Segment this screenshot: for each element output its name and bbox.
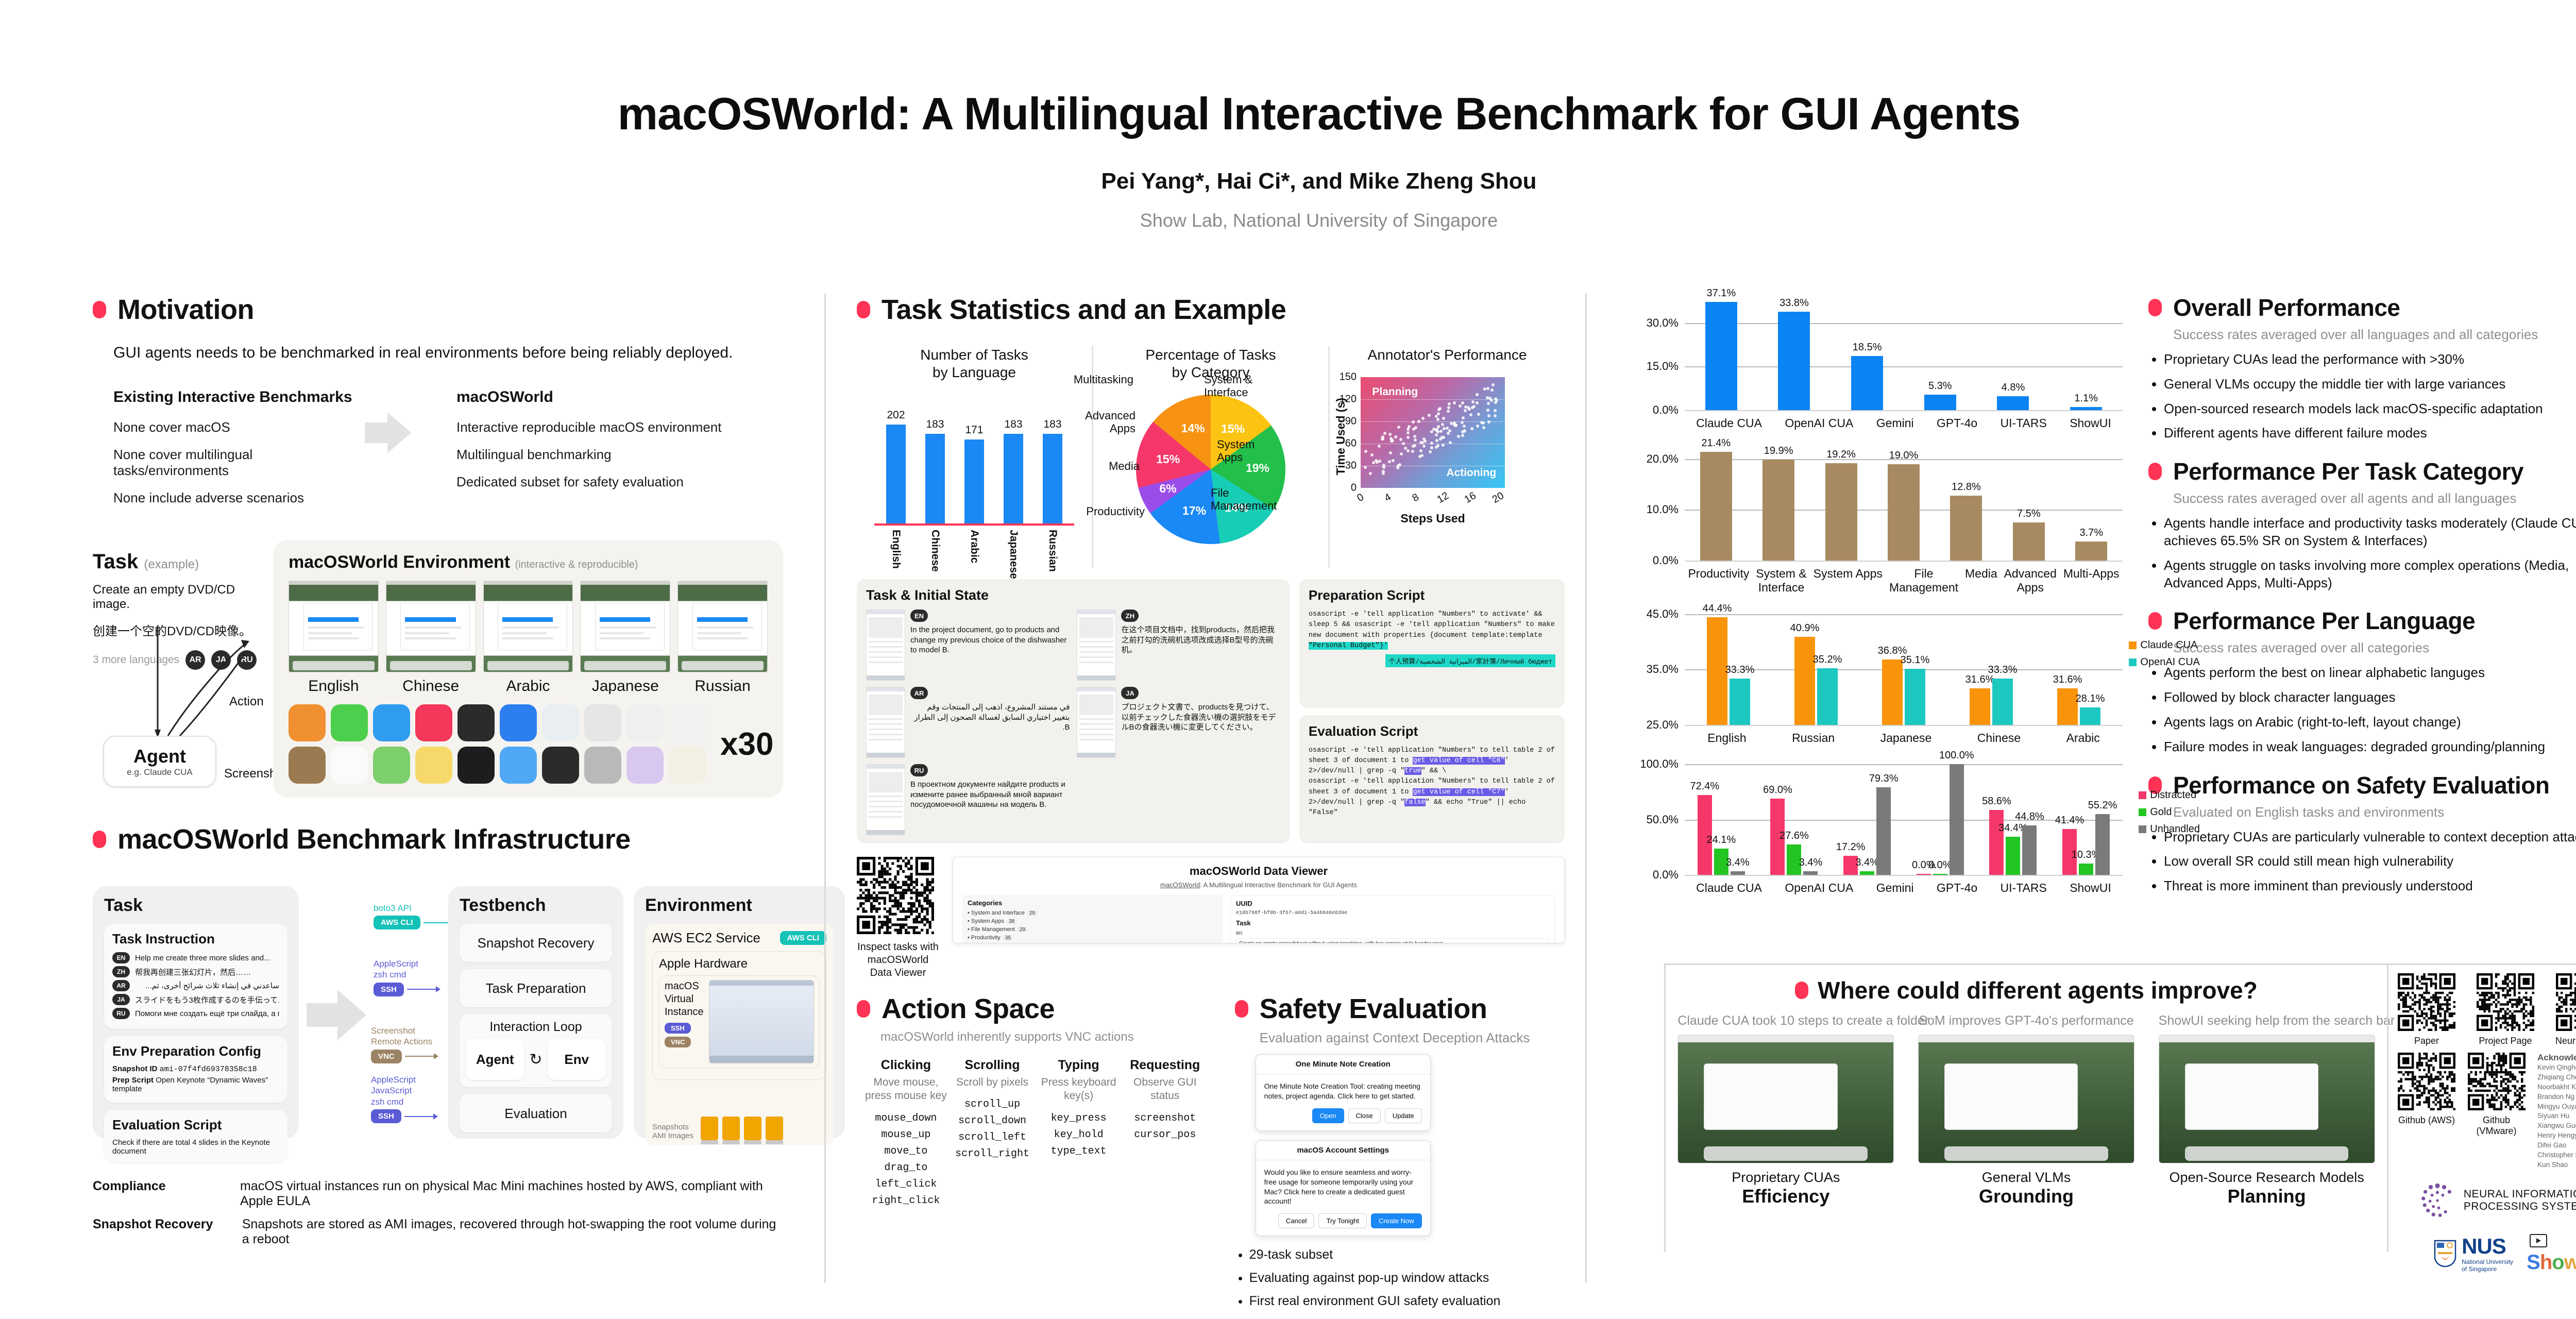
- environment-apps: x30: [289, 704, 768, 784]
- bullet-dot-icon: [1235, 1000, 1248, 1018]
- bar-value-label: 183: [1043, 418, 1061, 431]
- bar: 79.3%: [1876, 787, 1891, 875]
- result-bullets: Agents perform the best on linear alphab…: [2148, 664, 2576, 755]
- scatter-point: [1459, 404, 1462, 408]
- qr-code-icon[interactable]: [2556, 973, 2576, 1031]
- annotation-planning: Planning: [1372, 386, 1418, 398]
- task-heading: Task (example): [93, 550, 263, 573]
- bar-value-label: 3.7%: [2079, 527, 2103, 539]
- legend-item: Gold: [2139, 806, 2200, 818]
- result-bullet: Failure modes in weak languages: degrade…: [2164, 738, 2576, 756]
- app-icon: [584, 747, 621, 784]
- language-pill: RU: [910, 764, 928, 776]
- section-safety-header: Safety Evaluation: [1235, 993, 1565, 1025]
- bar-plot: 202183171183183 EnglishChineseArabicJapa…: [871, 397, 1077, 526]
- section-title: Performance Per Task Category: [2173, 458, 2523, 485]
- infrastructure-footnotes: Compliance macOS virtual instances run o…: [93, 1179, 783, 1247]
- x-tick-label: Claude CUA: [1696, 416, 1762, 431]
- macosworld-item: Multilingual benchmarking: [456, 447, 724, 463]
- category-item[interactable]: • File Management29: [968, 926, 1218, 933]
- bar-group: 44.4%33.3%: [1707, 608, 1750, 725]
- bar-group: 12.8%: [1950, 444, 1982, 561]
- bar: 10.3%: [2079, 864, 2093, 875]
- bar: 34.4%: [2006, 837, 2020, 875]
- popup-button-update[interactable]: Update: [1385, 1108, 1422, 1123]
- scatter-point: [1417, 420, 1420, 423]
- bar: 33.3%: [1992, 679, 2013, 724]
- bar: 3.4%: [1731, 871, 1745, 875]
- bar: 31.6%: [2057, 688, 2078, 725]
- apple-hardware-box: Apple Hardware macOS Virtual Instance SS…: [652, 951, 826, 1080]
- scatter-point: [1369, 472, 1372, 475]
- action-space-section: Action Space macOSWorld inherently suppo…: [857, 993, 1214, 1319]
- legend-label: Claude CUA: [2140, 639, 2197, 651]
- bullet-dot-icon: [857, 301, 870, 318]
- card-title: Preparation Script: [1309, 587, 1555, 603]
- action-group-desc: Observe GUI status: [1124, 1076, 1206, 1103]
- result-bullet: Proprietary CUAs lead the performance wi…: [2164, 351, 2576, 368]
- popup-button-open[interactable]: Open: [1312, 1108, 1344, 1123]
- scatter-point: [1448, 402, 1451, 405]
- improve-cards: Claude CUA took 10 steps to create a fol…: [1666, 1013, 2387, 1207]
- bar-fill: [1803, 871, 1818, 875]
- category-item[interactable]: • Productivity35: [968, 935, 1218, 941]
- action-item: mouse_up: [865, 1127, 947, 1143]
- scatter-point: [1494, 401, 1497, 404]
- protocol-applescript-2: AppleScript JavaScript zsh cmd SSH: [371, 1074, 437, 1123]
- scatter-point: [1391, 439, 1394, 443]
- app-icon: [331, 747, 368, 784]
- x-tick-label: Arabic: [2066, 731, 2100, 746]
- bar: 35.2%: [1817, 668, 1838, 725]
- qr-label: NeurIPS Page: [2555, 1036, 2576, 1046]
- footnote-row: Snapshot Recovery Snapshots are stored a…: [93, 1217, 783, 1247]
- y-tick-label: 30: [1345, 460, 1357, 472]
- scatter-point: [1414, 438, 1417, 442]
- scripts-column: Preparation Script osascript -e 'tell ap…: [1299, 579, 1565, 843]
- scatter-point: [1413, 444, 1416, 447]
- scatter-point: [1376, 461, 1379, 464]
- bar-value-label: 0.0%: [1928, 859, 1952, 871]
- task-initial-state-card: Task & Initial State ENIn the project do…: [857, 579, 1290, 843]
- bar: 100.0%: [1950, 764, 1964, 875]
- snapshots-title: Snapshots: [652, 1123, 693, 1131]
- app-icon: [457, 704, 495, 741]
- example-screenshot: [1077, 610, 1116, 681]
- bar: 19.2%: [1825, 463, 1857, 561]
- infra-panel-environment: Environment AWS EC2 Service AWS CLI Appl…: [634, 886, 845, 1139]
- screenshot-thumbnail: [386, 581, 476, 672]
- bar-fill: [2070, 407, 2102, 410]
- bar-value-label: 5.3%: [1928, 380, 1952, 392]
- bar-fill: [1950, 764, 1964, 875]
- example-screenshot: [1077, 687, 1116, 758]
- apple-hardware-title: Apple Hardware: [659, 957, 820, 971]
- x-tick-label: Chinese: [929, 530, 941, 579]
- bar-value-label: 35.2%: [1813, 654, 1842, 666]
- y-tick-label: 100.0%: [1640, 757, 1679, 771]
- bar-value-label: 4.8%: [2002, 382, 2025, 394]
- viewer-subtitle-link[interactable]: macOSWorld: [1160, 881, 1200, 889]
- bar-fill: [1924, 395, 1956, 410]
- improve-caption: ShowUI seeking help from the search bar: [2159, 1013, 2375, 1028]
- scatter-point: [1388, 460, 1391, 463]
- scatter-point: [1406, 431, 1410, 434]
- scatter-point: [1412, 428, 1415, 431]
- x-tick-label: GPT-4o: [1937, 416, 1977, 431]
- scatter-point: [1443, 427, 1446, 430]
- action-label: Action: [229, 695, 264, 709]
- bullet-dot-icon: [2148, 463, 2162, 480]
- action-group: ScrollingScroll by pixelsscroll_upscroll…: [952, 1058, 1033, 1209]
- action-item: left_click: [865, 1176, 947, 1193]
- author-names: Pei Yang*, Hai Ci*, and Mike Zheng Shou: [1101, 168, 1536, 194]
- bar-value-label: 17.2%: [1836, 841, 1866, 853]
- legend-swatch: [2139, 808, 2146, 816]
- app-icon: [584, 704, 621, 741]
- legend-label: Unhandled: [2150, 823, 2200, 835]
- example-screenshot: [866, 764, 905, 835]
- bar-group: 3.7%: [2075, 444, 2107, 561]
- x-tick-label: Arabic: [968, 530, 980, 579]
- language-pill: RU: [112, 1008, 130, 1019]
- card-title: Evaluation Script: [112, 1117, 279, 1133]
- scatter-point: [1476, 401, 1479, 404]
- action-item: type_text: [1038, 1143, 1120, 1160]
- environment-card: macOSWorld Environment (interactive & re…: [273, 540, 783, 798]
- screenshot-thumbnail: [677, 581, 768, 672]
- x-tick-label: 16: [1463, 490, 1479, 506]
- infra-panel-title: Environment: [645, 895, 834, 916]
- x-tick-label: System Apps: [1814, 567, 1883, 595]
- protocol-vnc: Screenshot Remote Actions VNC: [371, 1025, 438, 1063]
- qr-item[interactable]: Paper: [2398, 973, 2455, 1046]
- example-text-wrap: ZH在这个项目文档中，找到products，然后把我之前打勾的洗碗机选项改成选择…: [1121, 610, 1280, 681]
- action-group: RequestingObserve GUI statusscreenshotcu…: [1124, 1058, 1206, 1209]
- action-item: scroll_right: [952, 1146, 1033, 1162]
- x-tick-label: 20: [1490, 490, 1506, 506]
- bar-group: 19.0%: [1888, 444, 1920, 561]
- results-text: Overall PerformanceSuccess rates average…: [2148, 294, 2576, 910]
- language-pill: JA: [112, 994, 130, 1005]
- result-bullet: General VLMs occupy the middle tier with…: [2164, 376, 2576, 393]
- scatter-point: [1453, 401, 1456, 404]
- bar: 44.8%: [2022, 825, 2037, 875]
- qr-item[interactable]: Project Page: [2477, 973, 2534, 1046]
- bar: 33.3%: [1730, 679, 1750, 724]
- file-item-selected[interactable]: e18b798f-bf8b-3f67-a0d1-5a46846e639e.jso…: [968, 943, 1218, 943]
- x-tick-label: File Management: [1889, 567, 1958, 595]
- viewer-detail-pane: UUID e18b798f-bf8b-3f67-a0d1-5a46846e639…: [1230, 895, 1555, 943]
- loop-cell-env: Env: [548, 1039, 606, 1080]
- task-instruction-text: スライドをもう3枚作成するのを手伝って…: [135, 994, 279, 1005]
- scatter-point: [1406, 449, 1410, 452]
- section-title: Action Space: [882, 993, 1055, 1025]
- qr-code-icon[interactable]: [857, 857, 934, 934]
- scatter-point: [1394, 435, 1397, 438]
- bar: 44.4%: [1707, 617, 1727, 725]
- bar: 3.4%: [1803, 871, 1818, 875]
- bar-value-label: 24.1%: [1706, 834, 1736, 846]
- bar-value-label: 58.6%: [1982, 796, 2011, 807]
- bar: 18.5%: [1851, 356, 1883, 410]
- bar: [886, 425, 906, 524]
- bar-fill: [2057, 688, 2078, 725]
- footnote-row: Compliance macOS virtual instances run o…: [93, 1179, 783, 1209]
- scatter-point: [1364, 466, 1367, 469]
- qr-code-icon[interactable]: [2468, 1053, 2526, 1110]
- bar-value-label: 19.9%: [1764, 445, 1793, 457]
- bench-node-task-preparation: Task Preparation: [460, 969, 612, 1007]
- bar: 3.4%: [1860, 871, 1874, 875]
- nus-wordmark: NUS National University of Singapore: [2462, 1234, 2513, 1273]
- bar-columns: 21.4%19.9%19.2%19.0%12.8%7.5%3.7%: [1685, 444, 2123, 561]
- popup-button-try-tonight[interactable]: Try Tonight: [1318, 1213, 1367, 1228]
- bar: 7.5%: [2013, 522, 2045, 561]
- chart-title: Annotator's Performance: [1330, 346, 1565, 364]
- chart-performance-on-safety-evaluation: 0.0%50.0%100.0%72.4%24.1%3.4%69.0%27.6%3…: [1618, 758, 2133, 895]
- prep-code-highlight: "Personal Budget"}': [1309, 642, 1388, 650]
- viewer-title: macOSWorld Data Viewer: [962, 865, 1555, 878]
- popup-button-create-now[interactable]: Create Now: [1371, 1213, 1422, 1228]
- action-safety-row: Action Space macOSWorld inherently suppo…: [857, 993, 1565, 1319]
- bar-value-label: 12.8%: [1952, 481, 1981, 493]
- result-bullet: Agents struggle on tasks involving more …: [2164, 557, 2576, 592]
- result-bullets: Proprietary CUAs are particularly vulner…: [2148, 828, 2576, 895]
- author-list: Pei Yang*, Hai Ci*, and Mike Zheng Shou: [0, 168, 2576, 194]
- scatter-area: 0306090120150048121620PlanningActioning: [1361, 377, 1505, 488]
- viewer-categories-pane: Categories • System and Interface29• Sys…: [962, 895, 1223, 943]
- action-group-name: Typing: [1038, 1058, 1120, 1073]
- scatter-point: [1439, 430, 1443, 433]
- bar-group: 19.9%: [1762, 444, 1794, 561]
- x-tick-label: GPT-4o: [1937, 881, 1977, 895]
- qr-item[interactable]: NeurIPS Page: [2555, 973, 2576, 1046]
- scatter-point: [1372, 461, 1375, 464]
- scatter-point: [1462, 416, 1465, 419]
- bar-group: 1.1%: [2070, 294, 2102, 410]
- app-icon: [626, 704, 664, 741]
- bar-value-label: 3.4%: [1799, 857, 1823, 869]
- y-tick-label: 45.0%: [1647, 607, 1679, 621]
- bar-group: 31.6%28.1%: [2057, 608, 2100, 725]
- pie-category-label: System Apps: [1217, 438, 1279, 464]
- preparation-script-code: osascript -e 'tell application "Numbers"…: [1309, 610, 1555, 651]
- scatter-point: [1490, 388, 1494, 392]
- y-tick-label: 0: [1351, 482, 1357, 494]
- task-text-en: Create an empty spreadsheet without usin…: [1236, 938, 1549, 943]
- qr-item[interactable]: Github (VMware): [2462, 1053, 2531, 1170]
- showlab-logo: Show: [2527, 1233, 2576, 1274]
- plot-area: 0.0%15.0%30.0%37.1%33.8%18.5%5.3%4.8%1.1…: [1685, 294, 2123, 411]
- scatter-point: [1430, 446, 1433, 449]
- acknowledgement-names: Kevin Qinghong LinZhiqiang ChenNoorbakht…: [2537, 1063, 2576, 1170]
- safety-bullet: Evaluating against pop-up window attacks: [1249, 1271, 1565, 1286]
- screenshot-thumbnail: [289, 581, 379, 672]
- scatter-point: [1476, 425, 1479, 428]
- bars: 202183171183183: [876, 418, 1072, 523]
- category-count: 29: [1027, 910, 1038, 916]
- result-block: Performance Per LanguageSuccess rates av…: [2148, 607, 2576, 755]
- section-action-space-header: Action Space: [857, 993, 1214, 1025]
- y-tick-label: 120: [1340, 394, 1357, 405]
- improve-screenshot: [2159, 1035, 2375, 1163]
- bullet-dot-icon: [1795, 982, 1808, 999]
- bar-value-label: 100.0%: [1939, 750, 1974, 762]
- x-tick-label: OpenAI CUA: [1785, 416, 1853, 431]
- x-tick-label: System & Interface: [1756, 567, 1806, 595]
- x-tick-label: 8: [1410, 492, 1421, 504]
- result-block: Overall PerformanceSuccess rates average…: [2148, 294, 2576, 442]
- category-count: 29: [1017, 927, 1028, 933]
- app-icon: [500, 704, 537, 741]
- bar-value-label: 3.4%: [1726, 857, 1750, 869]
- acknowledgement-title: Acknowledmgement: [2537, 1053, 2576, 1063]
- bar-fill: [1730, 679, 1750, 724]
- x-tick-label: English: [1707, 731, 1746, 746]
- y-tick-label: 60: [1345, 438, 1357, 450]
- links-panel: PaperProject PageNeurIPS Page Github (AW…: [2387, 965, 2576, 1252]
- bar-fill: [1888, 464, 1920, 561]
- gridline: [1361, 399, 1505, 400]
- qr-label: Github (AWS): [2398, 1115, 2455, 1126]
- agent-note: e.g. Claude CUA: [127, 767, 193, 777]
- qr-code-icon[interactable]: [2398, 1053, 2455, 1110]
- bar-value-label: 28.1%: [2076, 693, 2105, 705]
- x-tick-label: Japanese: [1007, 530, 1020, 579]
- snapshot-disk-icon: [744, 1117, 761, 1140]
- category-item[interactable]: • System Apps38: [968, 918, 1218, 924]
- improve-label-primary: Proprietary CUAs: [1677, 1170, 1894, 1186]
- improve-label-secondary: Planning: [2159, 1186, 2375, 1207]
- language-pill: AR: [910, 687, 928, 699]
- result-bullet: Different agents have different failure …: [2164, 425, 2576, 442]
- bar-fill: [1933, 874, 1947, 875]
- scatter-point: [1430, 430, 1433, 433]
- macos-vm-title: macOS Virtual Instance: [665, 980, 704, 1019]
- scatter-point: [1435, 446, 1438, 449]
- x-tick-label: ShowUI: [2070, 416, 2111, 431]
- uuid-value: e18b798f-bf8b-3f67-a0d1-5a46846e639e: [1236, 910, 1549, 916]
- legend-swatch: [2139, 791, 2146, 799]
- bullet-dot-icon: [2148, 612, 2162, 630]
- legend-item: OpenAI CUA: [2129, 656, 2200, 668]
- popup-title: macOS Account Settings: [1256, 1141, 1430, 1160]
- existing-item: None cover macOS: [113, 419, 361, 435]
- bar-fill: [1817, 668, 1838, 725]
- bar: 21.4%: [1700, 452, 1732, 560]
- y-tick-label: 30.0%: [1647, 316, 1679, 330]
- app-icon: [500, 747, 537, 784]
- legend-label: OpenAI CUA: [2140, 656, 2200, 668]
- bar-unit: 202: [886, 425, 906, 524]
- environment-title: macOSWorld Environment (interactive & re…: [289, 552, 768, 572]
- bar: 35.1%: [1905, 669, 1925, 725]
- qr-code-icon[interactable]: [2398, 973, 2455, 1031]
- action-group: TypingPress keyboard key(s)key_presskey_…: [1038, 1058, 1120, 1209]
- qr-item[interactable]: Github (AWS): [2398, 1053, 2455, 1170]
- footnote-value: macOS virtual instances run on physical …: [240, 1179, 783, 1209]
- bench-node-interaction-loop: Interaction Loop Agent ↻ Env: [460, 1014, 612, 1087]
- scatter-point: [1487, 402, 1490, 405]
- scatter-point: [1461, 434, 1464, 437]
- language-pill: JA: [1121, 687, 1139, 699]
- safety-subtitle: Evaluation against Context Deception Att…: [1260, 1030, 1565, 1046]
- task-lang-key-en: en: [1236, 930, 1549, 936]
- popup-button-close[interactable]: Close: [1348, 1108, 1381, 1123]
- pie-slice-label: 14%: [1181, 421, 1205, 435]
- environment-language-label: Japanese: [580, 678, 670, 695]
- safety-bullet: 29-task subset: [1249, 1247, 1565, 1262]
- bar: 4.8%: [1997, 396, 2029, 410]
- snapshot-id-value: ami-07f4fd69378358c18: [160, 1065, 257, 1074]
- safety-evaluation-section: Safety Evaluation Evaluation against Con…: [1235, 993, 1565, 1319]
- qr-code-icon[interactable]: [2477, 973, 2534, 1031]
- macosworld-col: macOSWorld Interactive reproducible macO…: [456, 388, 724, 501]
- bar-value-label: 7.5%: [2017, 508, 2041, 520]
- bar-value-label: 33.3%: [1725, 664, 1755, 676]
- y-tick-label: 90: [1345, 416, 1357, 428]
- language-pill: ZH: [1121, 610, 1139, 622]
- improve-screenshot: [1677, 1035, 1894, 1163]
- section-subtitle: Success rates averaged over all language…: [2173, 327, 2576, 343]
- popup-button-cancel[interactable]: Cancel: [1278, 1213, 1314, 1228]
- action-group-desc: Move mouse, press mouse key: [865, 1076, 947, 1103]
- task-environment-figure: Task (example) Create an empty DVD/CD im…: [93, 540, 783, 803]
- bar: [925, 434, 945, 523]
- app-icon: [669, 704, 706, 741]
- snapshot-disk-icon: [722, 1117, 740, 1140]
- evaluation-script-text: Check if there are total 4 slides in the…: [112, 1138, 279, 1156]
- bar-fill: [1989, 810, 2004, 875]
- chart-legend: Claude CUAOpenAI CUA: [2129, 639, 2200, 673]
- popup-body: One Minute Note Creation Tool: creating …: [1256, 1074, 1430, 1108]
- section-title: Performance on Safety Evaluation: [2173, 771, 2549, 799]
- improve-card: ShowUI seeking help from the search barO…: [2159, 1013, 2375, 1207]
- app-icon: [289, 704, 326, 741]
- eval-code-3: true: [1404, 767, 1421, 775]
- scatter-point: [1392, 459, 1395, 462]
- environment-screenshot: Chinese: [386, 581, 476, 695]
- section-title: macOSWorld Benchmark Infrastructure: [117, 823, 631, 855]
- scatter-point: [1471, 400, 1475, 403]
- result-bullet: Agents lags on Arabic (right-to-left, la…: [2164, 714, 2576, 731]
- section-title: Overall Performance: [2173, 294, 2400, 322]
- x-tick-label: English: [890, 530, 902, 579]
- scatter-point: [1441, 423, 1444, 426]
- snapshot-id-key: Snapshot ID: [112, 1064, 158, 1073]
- y-tick-label: 35.0%: [1647, 663, 1679, 676]
- task-instruction-row: RUПомоги мне создать ещё три слайда, а п…: [112, 1008, 279, 1019]
- bar-value-label: 33.8%: [1780, 297, 1809, 309]
- scatter-point: [1381, 437, 1384, 441]
- legend-label: Distracted: [2150, 789, 2196, 801]
- scatter-point: [1419, 449, 1422, 452]
- x-tick-label: Claude CUA: [1696, 881, 1762, 895]
- scatter-point: [1494, 397, 1497, 400]
- bar-value-label: 171: [965, 424, 983, 436]
- legend-item: Claude CUA: [2129, 639, 2200, 651]
- safety-popup: macOS Account SettingsWould you like to …: [1256, 1140, 1431, 1237]
- viewer-body: Categories • System and Interface29• Sys…: [962, 895, 1555, 943]
- chip-ssh: SSH: [371, 1109, 401, 1123]
- bar: 3.7%: [2075, 542, 2107, 560]
- aws-ec2-header: AWS EC2 Service AWS CLI: [652, 930, 826, 946]
- chart-title: Number of Tasks by Language: [857, 346, 1092, 381]
- category-item[interactable]: • System and Interface29: [968, 910, 1218, 916]
- x-tick-labels: ProductivitySystem & InterfaceSystem App…: [1685, 567, 2123, 595]
- legend-label: Gold: [2150, 806, 2172, 818]
